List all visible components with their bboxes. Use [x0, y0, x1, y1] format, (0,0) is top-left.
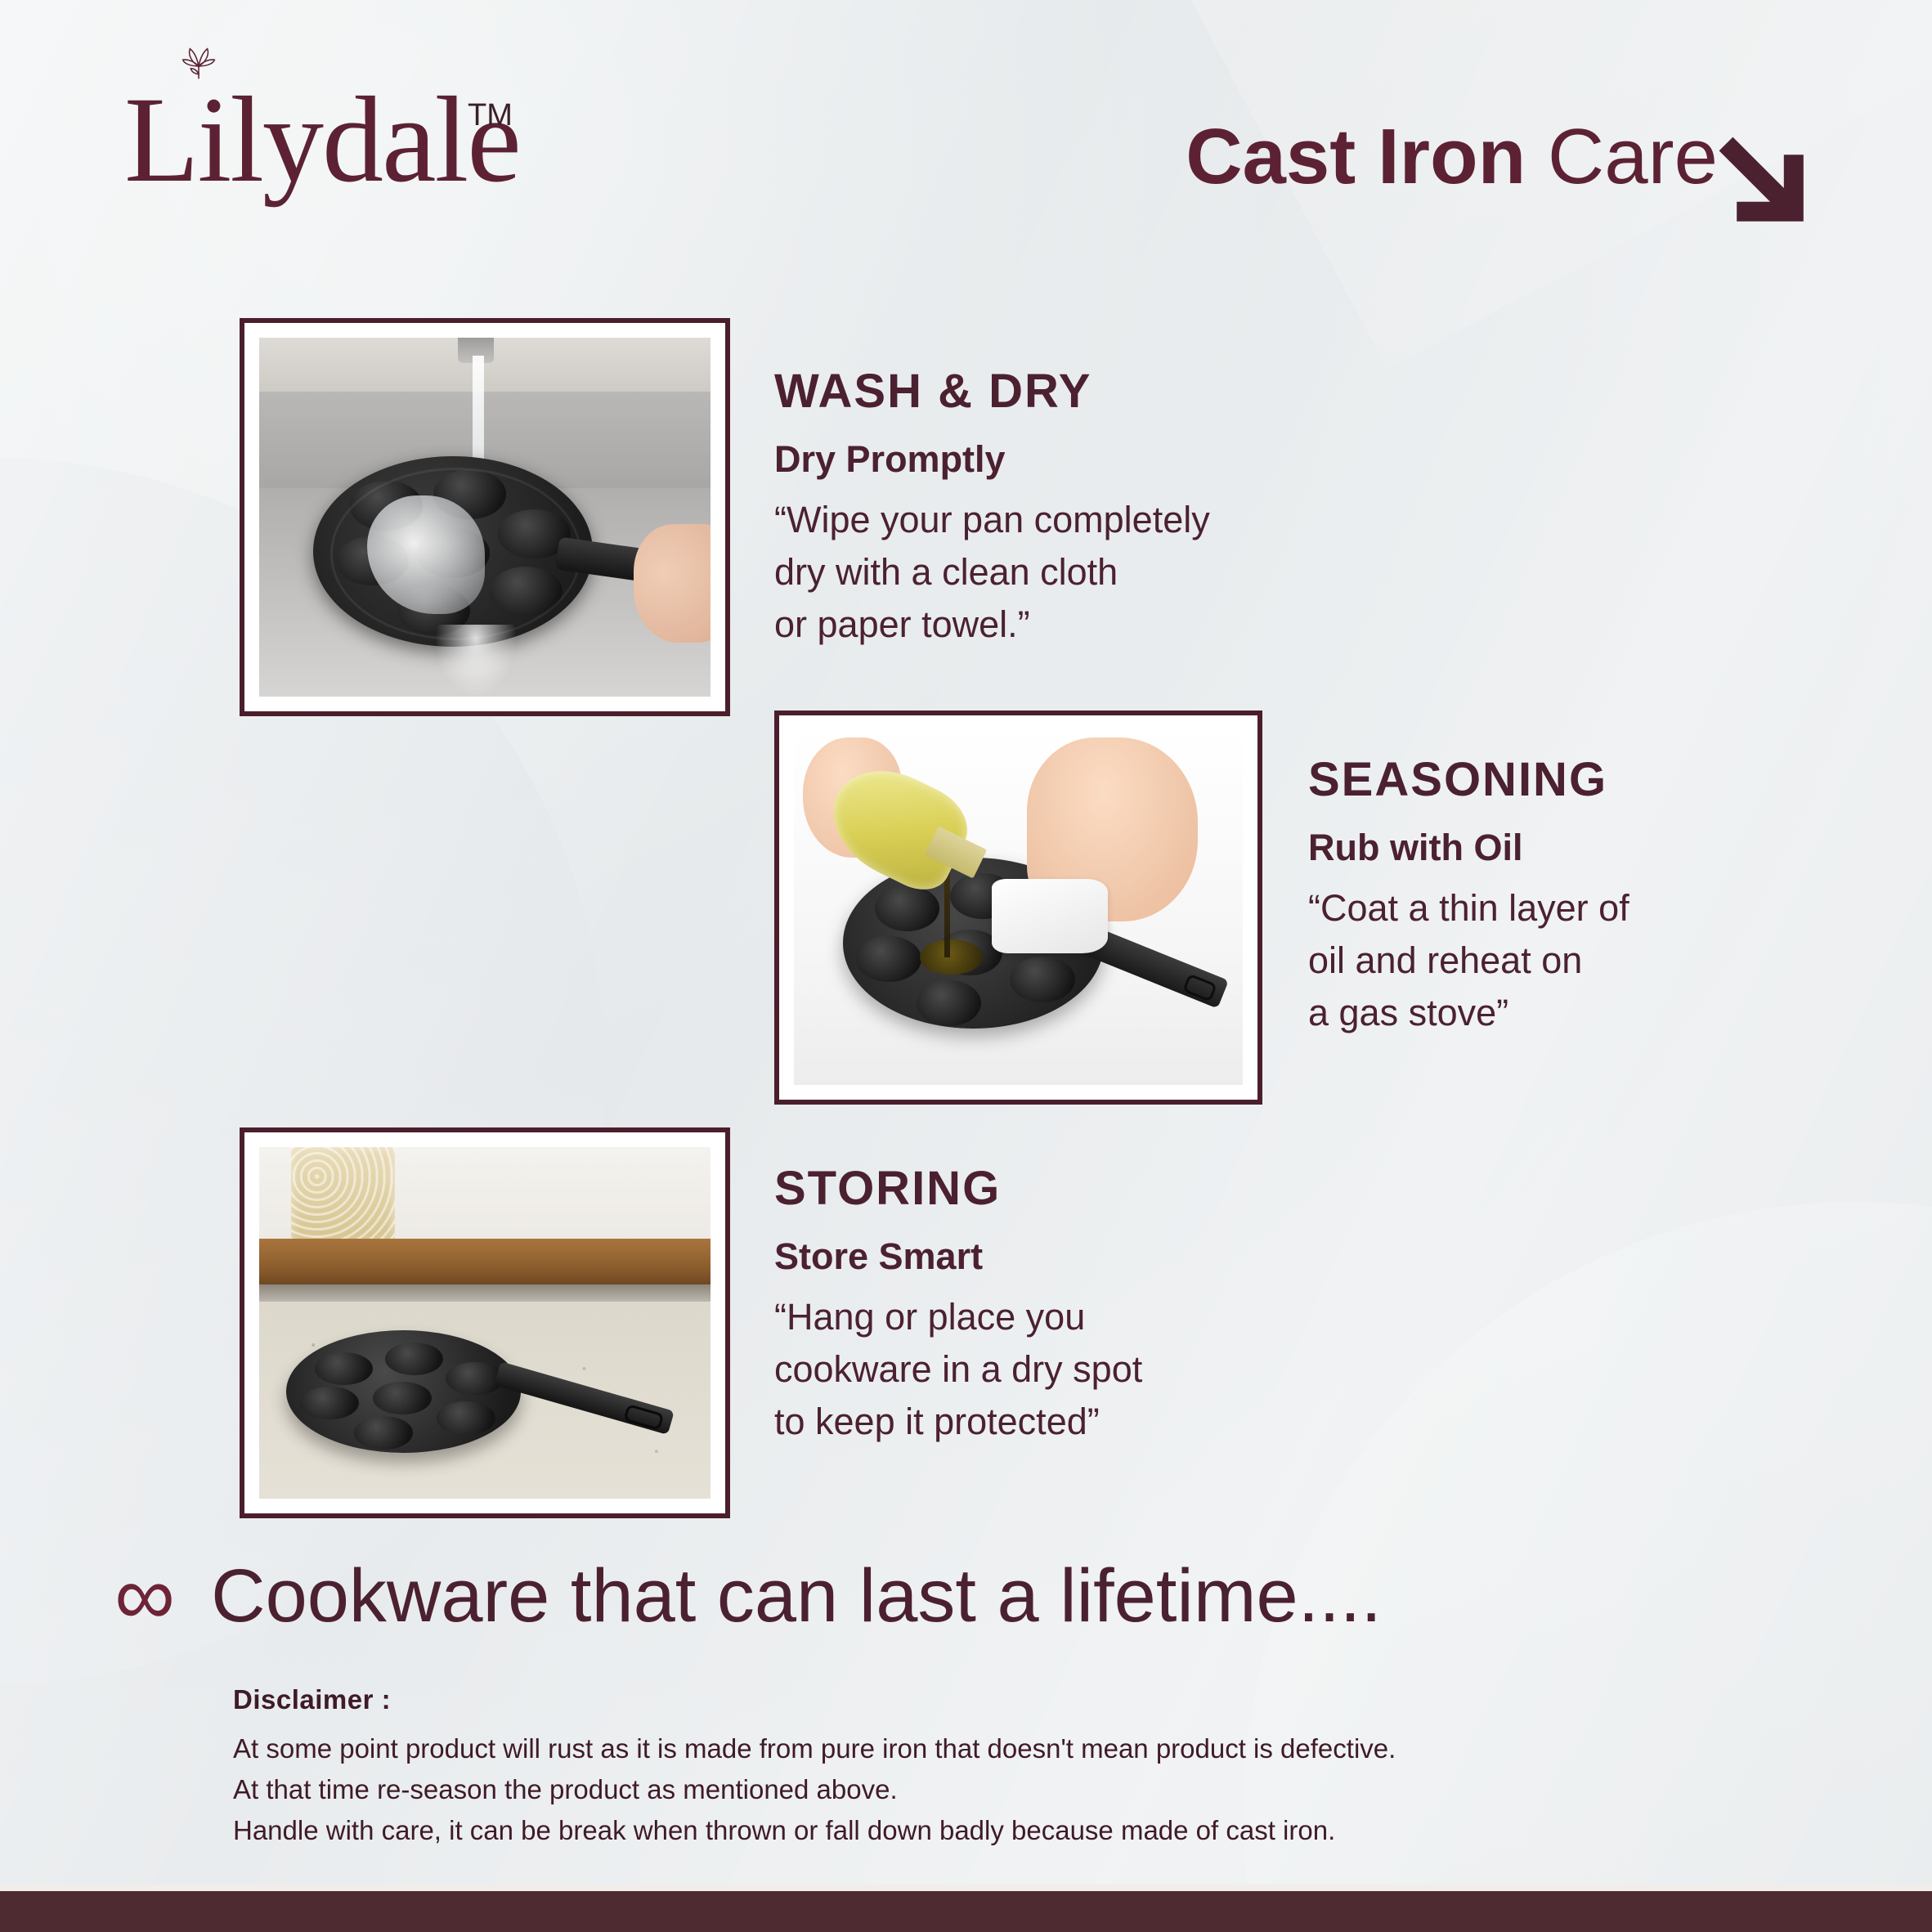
disclaimer-line-3: Handle with care, it can be break when t…: [233, 1810, 1786, 1851]
photo-frame-seasoning: [774, 710, 1262, 1105]
section-quote-line-storing-3: to keep it protected”: [774, 1396, 1347, 1448]
lily-flower-icon: [175, 39, 222, 87]
section-quote-line-storing-2: cookware in a dry spot: [774, 1343, 1347, 1396]
section-seasoning: SEASONING Rub with Oil “Coat a thin laye…: [1308, 756, 1864, 1038]
section-quote-line-seasoning-2: oil and reheat on: [1308, 935, 1864, 987]
section-kicker-seasoning: SEASONING: [1308, 756, 1864, 804]
page-title-bold: Cast Iron: [1186, 113, 1526, 200]
photo-frame-wash-dry: [240, 318, 730, 716]
poster-canvas: Lilydale TM Cast Iron Care: [0, 0, 1932, 1932]
brand-logo[interactable]: Lilydale TM: [124, 78, 520, 201]
section-subtitle-wash: Dry Promptly: [774, 438, 1347, 481]
photo-pan-stored: [259, 1147, 710, 1499]
section-quote-line-wash-3: or paper towel.”: [774, 598, 1347, 651]
page-title: Cast Iron Care: [1186, 118, 1718, 196]
section-quote-line-storing-1: “Hang or place you: [774, 1291, 1347, 1343]
section-wash-dry: WASH & DRY Dry Promptly “Wipe your pan c…: [774, 368, 1347, 650]
page-title-light: Care: [1526, 113, 1718, 200]
section-kicker-storing: STORING: [774, 1165, 1347, 1213]
footer-bar: [0, 1891, 1932, 1932]
section-quote-line-wash-1: “Wipe your pan completely: [774, 494, 1347, 546]
photo-frame-storing: [240, 1127, 730, 1518]
arrow-down-right-icon: [1707, 129, 1813, 227]
section-kicker-wash: WASH & DRY: [774, 368, 1347, 415]
section-quote-line-wash-2: dry with a clean cloth: [774, 546, 1347, 598]
photo-pan-oiling: [794, 730, 1243, 1085]
section-subtitle-seasoning: Rub with Oil: [1308, 827, 1864, 869]
section-quote-line-seasoning-1: “Coat a thin layer of: [1308, 882, 1864, 935]
disclaimer: Disclaimer : At some point product will …: [233, 1684, 1786, 1851]
section-quote-line-seasoning-3: a gas stove”: [1308, 987, 1864, 1039]
brand-wordmark: Lilydale: [124, 78, 520, 201]
disclaimer-line-2: At that time re-season the product as me…: [233, 1769, 1786, 1810]
disclaimer-title: Disclaimer :: [233, 1684, 1786, 1715]
section-subtitle-storing: Store Smart: [774, 1235, 1347, 1278]
infinity-icon: ∞: [114, 1553, 175, 1638]
section-storing: STORING Store Smart “Hang or place you c…: [774, 1165, 1347, 1447]
disclaimer-line-1: At some point product will rust as it is…: [233, 1728, 1786, 1769]
footer-hairline: [0, 1885, 1932, 1891]
header: Lilydale TM Cast Iron Care: [0, 0, 1932, 270]
tagline: ∞ Cookware that can last a lifetime....: [114, 1553, 1831, 1638]
photo-pan-washing: [259, 338, 710, 697]
tagline-text: Cookware that can last a lifetime....: [211, 1558, 1382, 1634]
trademark-symbol: TM: [468, 98, 513, 133]
